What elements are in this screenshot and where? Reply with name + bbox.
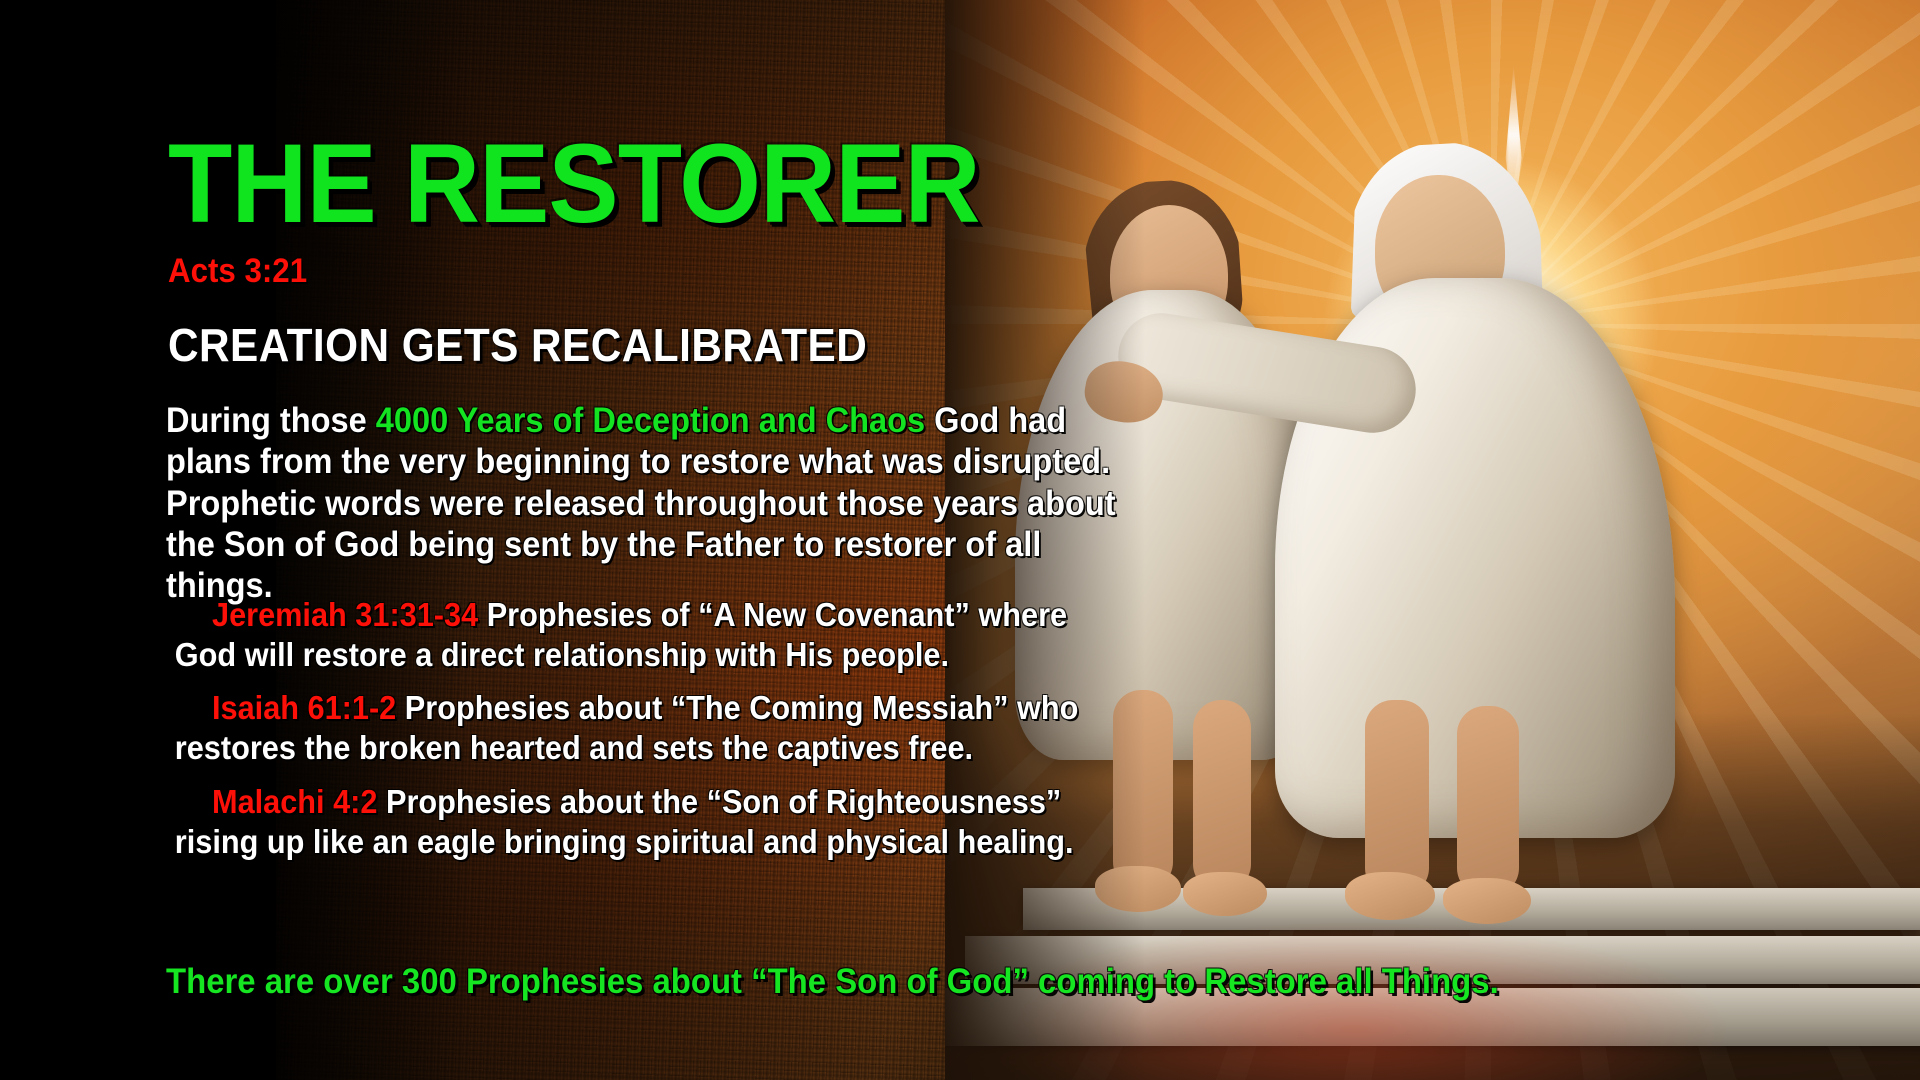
intro-paragraph-highlight: 4000 Years of Deception and Chaos xyxy=(376,401,925,440)
intro-paragraph-lead: During those xyxy=(166,401,376,440)
page-title: THE RESTORER xyxy=(168,128,980,240)
top-scripture-reference: Acts 3:21 xyxy=(168,252,307,291)
page-subtitle: CREATION GETS RECALIBRATED xyxy=(168,318,867,372)
closing-statement: There are over 300 Prophesies about “The… xyxy=(166,962,1529,1002)
verse-reference-isaiah: Isaiah 61:1-2 xyxy=(212,689,396,726)
verse-text-malachi-line1: Prophesies about the “Son of Righteousne… xyxy=(386,783,1061,820)
verse-block-malachi: Malachi 4:2 Prophesies about the “Son of… xyxy=(212,782,1198,861)
intro-paragraph: During those 4000 Years of Deception and… xyxy=(166,400,1152,606)
verse-block-jeremiah: Jeremiah 31:31-34 Prophesies of “A New C… xyxy=(212,595,1198,674)
verse-text-isaiah-line2: restores the broken hearted and sets the… xyxy=(175,728,1198,768)
verse-text-jeremiah-line2: God will restore a direct relationship w… xyxy=(175,635,1198,675)
verse-text-jeremiah-line1: Prophesies of “A New Covenant” where xyxy=(487,596,1067,633)
slide-root: THE RESTORER Acts 3:21 CREATION GETS REC… xyxy=(0,0,1920,1080)
verse-block-isaiah: Isaiah 61:1-2 Prophesies about “The Comi… xyxy=(212,688,1198,767)
verse-reference-jeremiah: Jeremiah 31:31-34 xyxy=(212,596,478,633)
verse-text-isaiah-line1: Prophesies about “The Coming Messiah” wh… xyxy=(405,689,1079,726)
verse-reference-malachi: Malachi 4:2 xyxy=(212,783,377,820)
text-content-layer: THE RESTORER Acts 3:21 CREATION GETS REC… xyxy=(0,0,1920,1080)
verse-text-malachi-line2: rising up like an eagle bringing spiritu… xyxy=(175,822,1198,862)
